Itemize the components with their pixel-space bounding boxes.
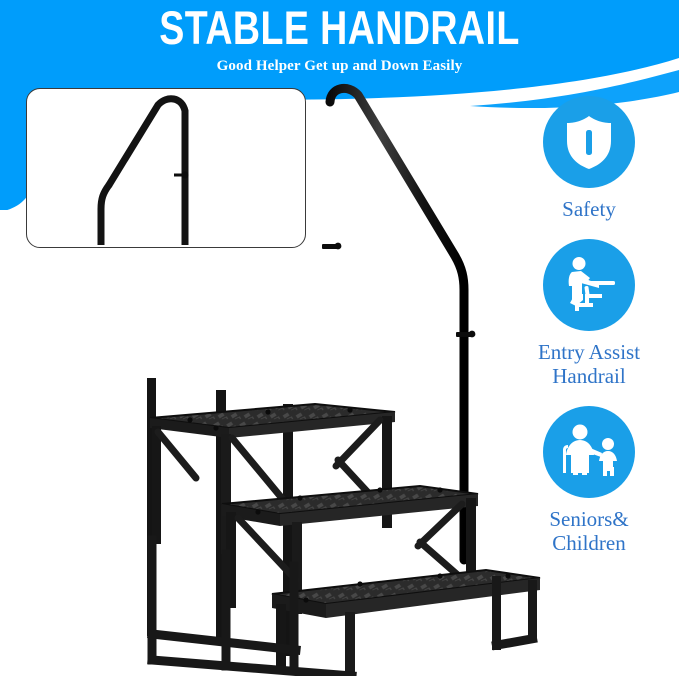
feature-item-entry-assist[interactable]: Entry Assist Handrail	[505, 239, 673, 388]
product-photo	[0, 60, 545, 676]
feature-list: Safety	[505, 96, 673, 555]
page-title: STABLE HANDRAIL	[68, 2, 611, 54]
feature-label: Safety	[562, 197, 616, 221]
feature-icon-circle	[543, 406, 635, 498]
product-marketing-image: STABLE HANDRAIL Good Helper Get up and D…	[0, 0, 679, 676]
step-bottom	[272, 570, 540, 672]
person-climbing-stairs-icon	[559, 256, 619, 314]
feature-label: Seniors& Children	[549, 507, 628, 555]
feature-label: Entry Assist Handrail	[538, 340, 640, 388]
feature-item-safety[interactable]: Safety	[505, 96, 673, 221]
step-stool-illustration	[0, 60, 545, 676]
shield-icon	[563, 113, 615, 171]
feature-icon-circle	[543, 96, 635, 188]
senior-and-child-icon	[558, 423, 620, 481]
feature-icon-circle	[543, 239, 635, 331]
feature-item-seniors-children[interactable]: Seniors& Children	[505, 406, 673, 555]
